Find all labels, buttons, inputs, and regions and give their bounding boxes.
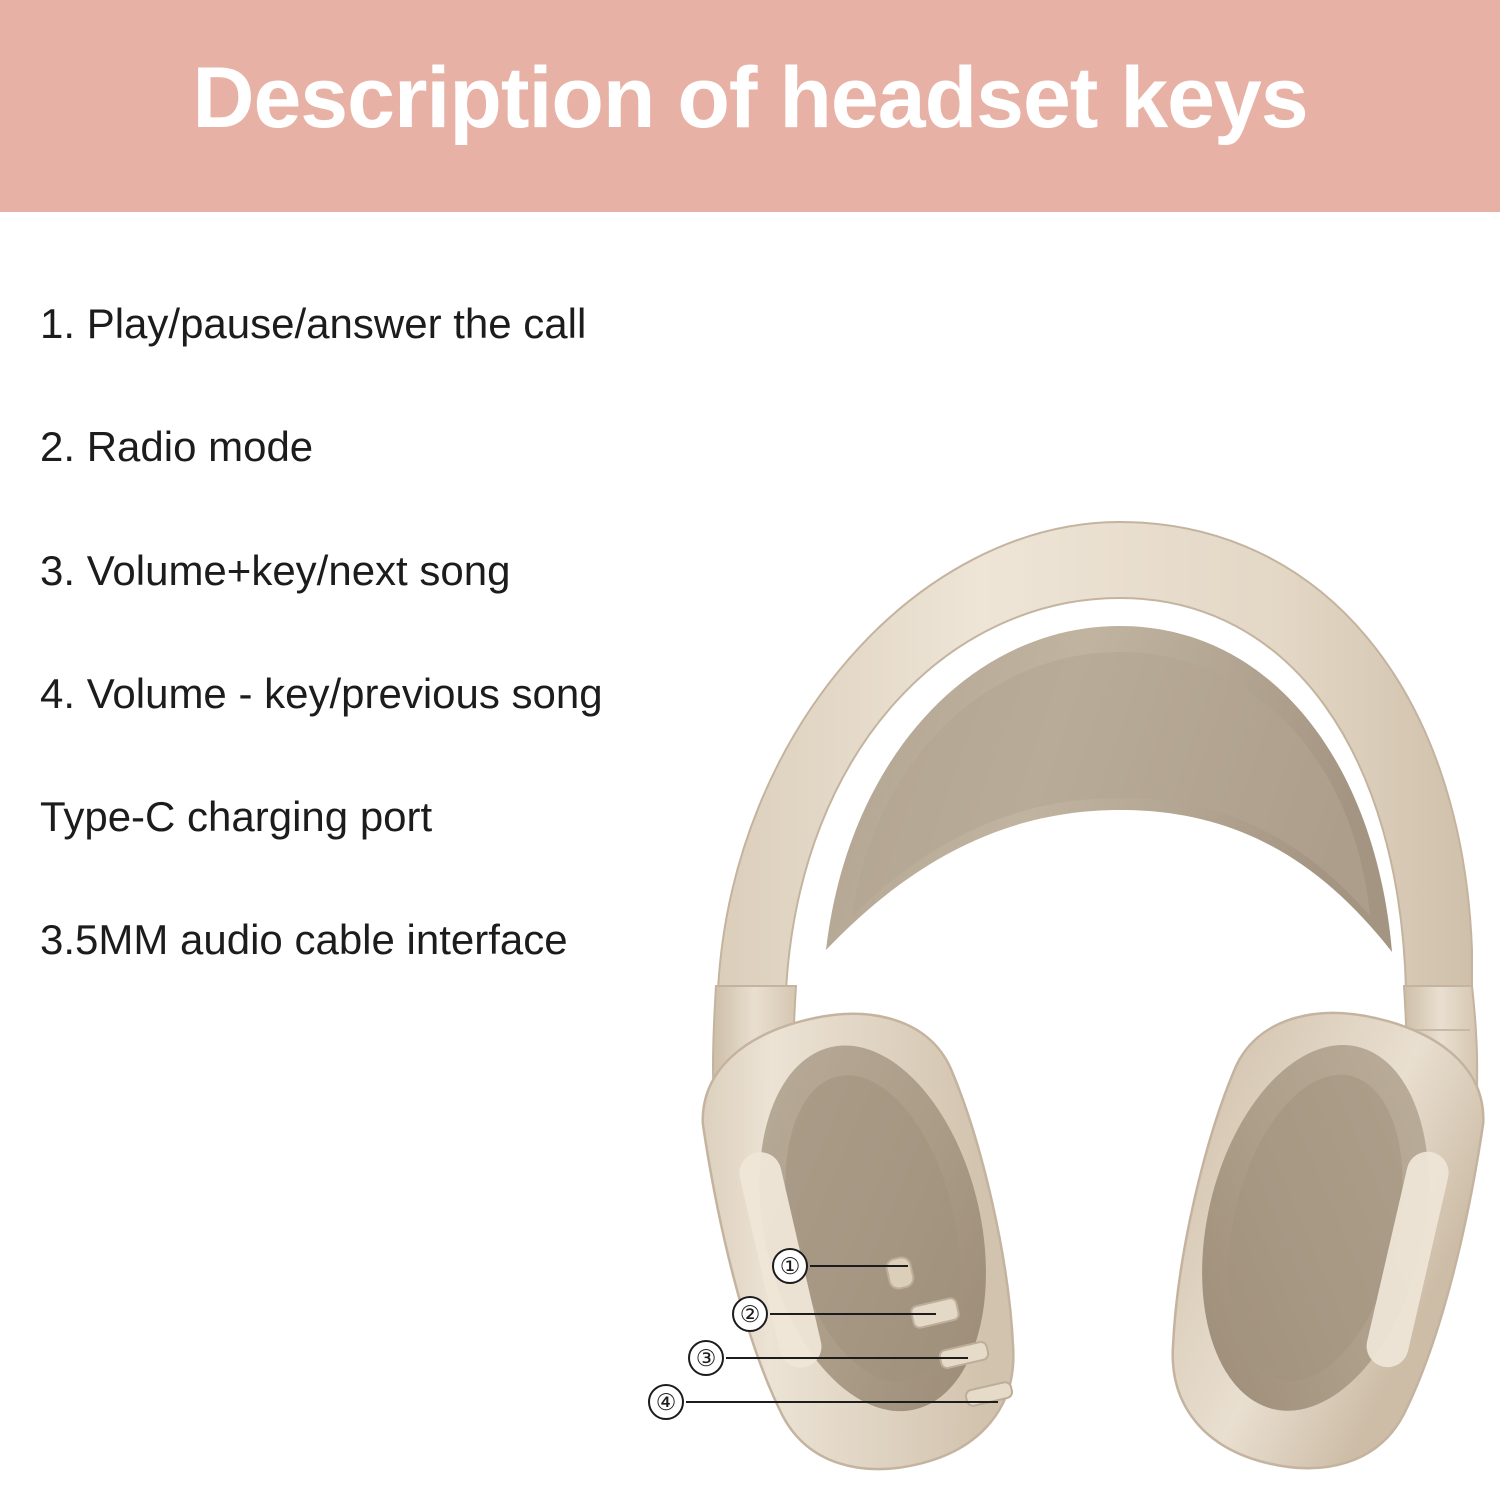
- right-ear-cup-group: [1140, 988, 1500, 1490]
- page-root: Description of headset keys 1. Play/paus…: [0, 0, 1500, 1500]
- list-item: 1. Play/pause/answer the call: [40, 300, 740, 348]
- page-title: Description of headset keys: [192, 55, 1307, 141]
- left-ear-cup-group: [680, 988, 1045, 1490]
- header-banner: Description of headset keys: [0, 0, 1500, 212]
- headphones-illustration: [620, 430, 1500, 1490]
- headband-cushion-highlight: [852, 652, 1370, 916]
- headphones-graphic: [620, 430, 1500, 1490]
